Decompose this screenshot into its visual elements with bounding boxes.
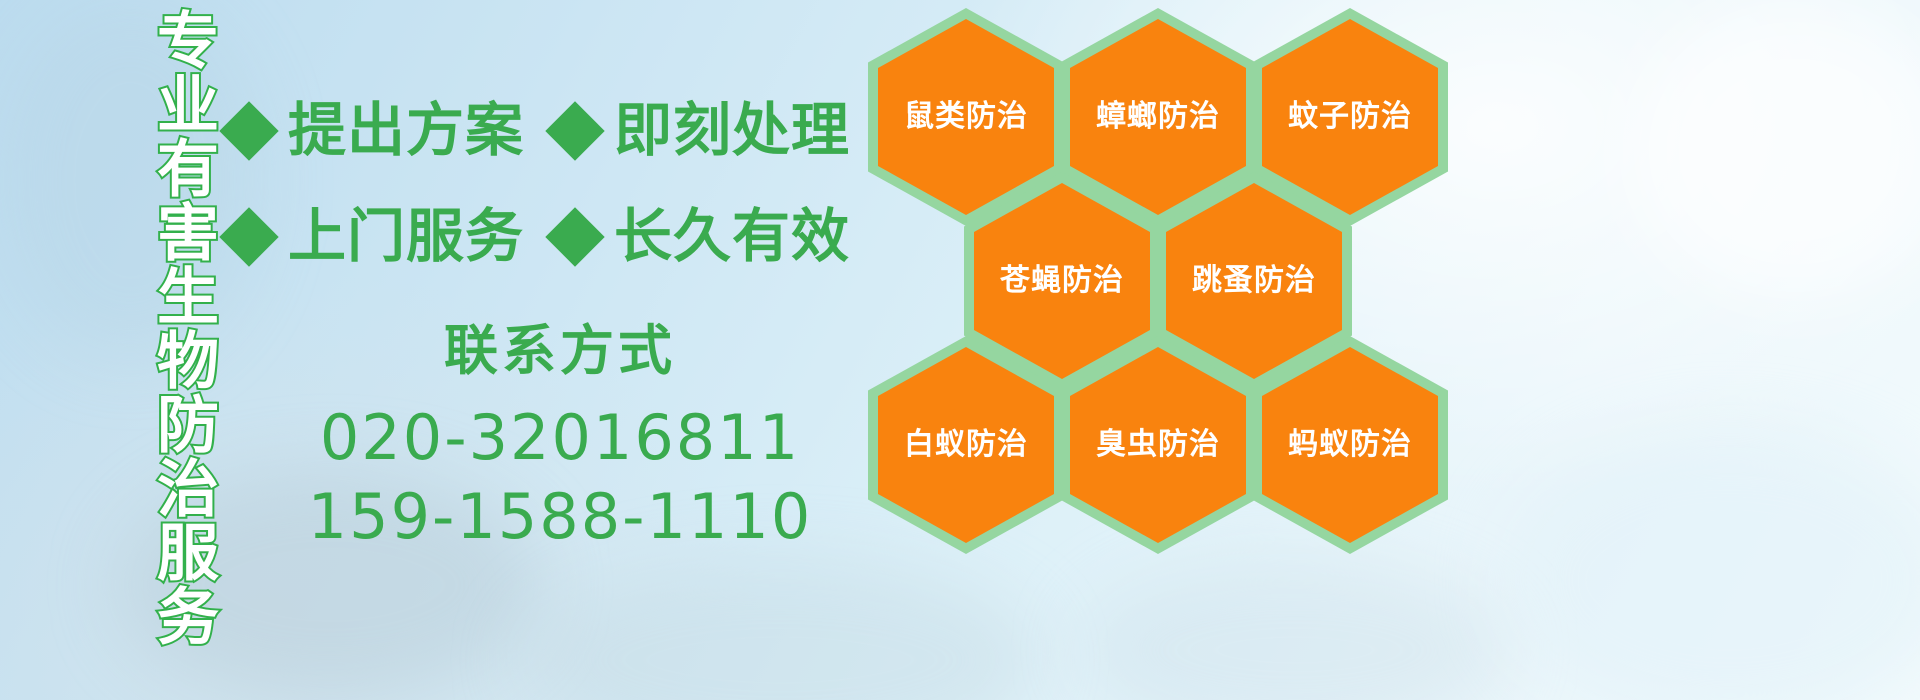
background-blur-5 [1630, 0, 1920, 300]
pest-control-banner: 专业有害生物防治服务 提出方案 即刻处理 上门服务 长久有效 联系方式 0 [0, 0, 1920, 700]
background-blur-2 [520, 560, 1040, 700]
hex-label: 白蚁防治 [904, 430, 1028, 460]
feature-row-2: 上门服务 长久有效 [228, 184, 868, 290]
feature-item-long-lasting: 长久有效 [554, 208, 850, 266]
contact-phone-mobile[interactable]: 159-1588-1110 [250, 477, 870, 556]
feature-label: 长久有效 [614, 208, 850, 266]
hex-label: 苍蝇防治 [1000, 266, 1124, 296]
diamond-icon [545, 101, 604, 160]
hex-inner: 苍蝇防治 [974, 183, 1150, 379]
hex-label: 鼠类防治 [904, 102, 1028, 132]
hex-label: 蚂蚁防治 [1288, 430, 1412, 460]
hex-inner: 蟑螂防治 [1070, 19, 1246, 215]
hex-label: 跳蚤防治 [1192, 266, 1316, 296]
service-honeycomb: 鼠类防治 蟑螂防治 蚊子防治 苍蝇防治 跳蚤防治 白蚁防治 [860, 0, 1460, 554]
vertical-headline: 专业有害生物防治服务 [108, 8, 212, 568]
hex-inner: 跳蚤防治 [1166, 183, 1342, 379]
background-blur-3 [1080, 560, 1510, 700]
diamond-icon [219, 101, 278, 160]
hex-label: 蟑螂防治 [1096, 102, 1220, 132]
feature-item-propose-plan: 提出方案 [228, 102, 524, 160]
diamond-icon [219, 207, 278, 266]
feature-item-door-service: 上门服务 [228, 208, 524, 266]
hex-inner: 蚂蚁防治 [1262, 347, 1438, 543]
contact-heading: 联系方式 [250, 318, 870, 386]
hex-inner: 蚊子防治 [1262, 19, 1438, 215]
feature-label: 即刻处理 [614, 102, 850, 160]
hex-label: 蚊子防治 [1288, 102, 1412, 132]
contact-phone-landline[interactable]: 020-32016811 [250, 398, 870, 477]
feature-item-immediate-handling: 即刻处理 [554, 102, 850, 160]
hex-inner: 臭虫防治 [1070, 347, 1246, 543]
feature-label: 提出方案 [288, 102, 524, 160]
hex-label: 臭虫防治 [1096, 430, 1220, 460]
hex-inner: 白蚁防治 [878, 347, 1054, 543]
feature-row-1: 提出方案 即刻处理 [228, 78, 868, 184]
feature-label: 上门服务 [288, 208, 524, 266]
contact-block: 联系方式 020-32016811 159-1588-1110 [250, 318, 870, 556]
background-blur-4 [1500, 430, 1920, 700]
feature-list: 提出方案 即刻处理 上门服务 长久有效 [228, 78, 868, 290]
diamond-icon [545, 207, 604, 266]
hex-inner: 鼠类防治 [878, 19, 1054, 215]
